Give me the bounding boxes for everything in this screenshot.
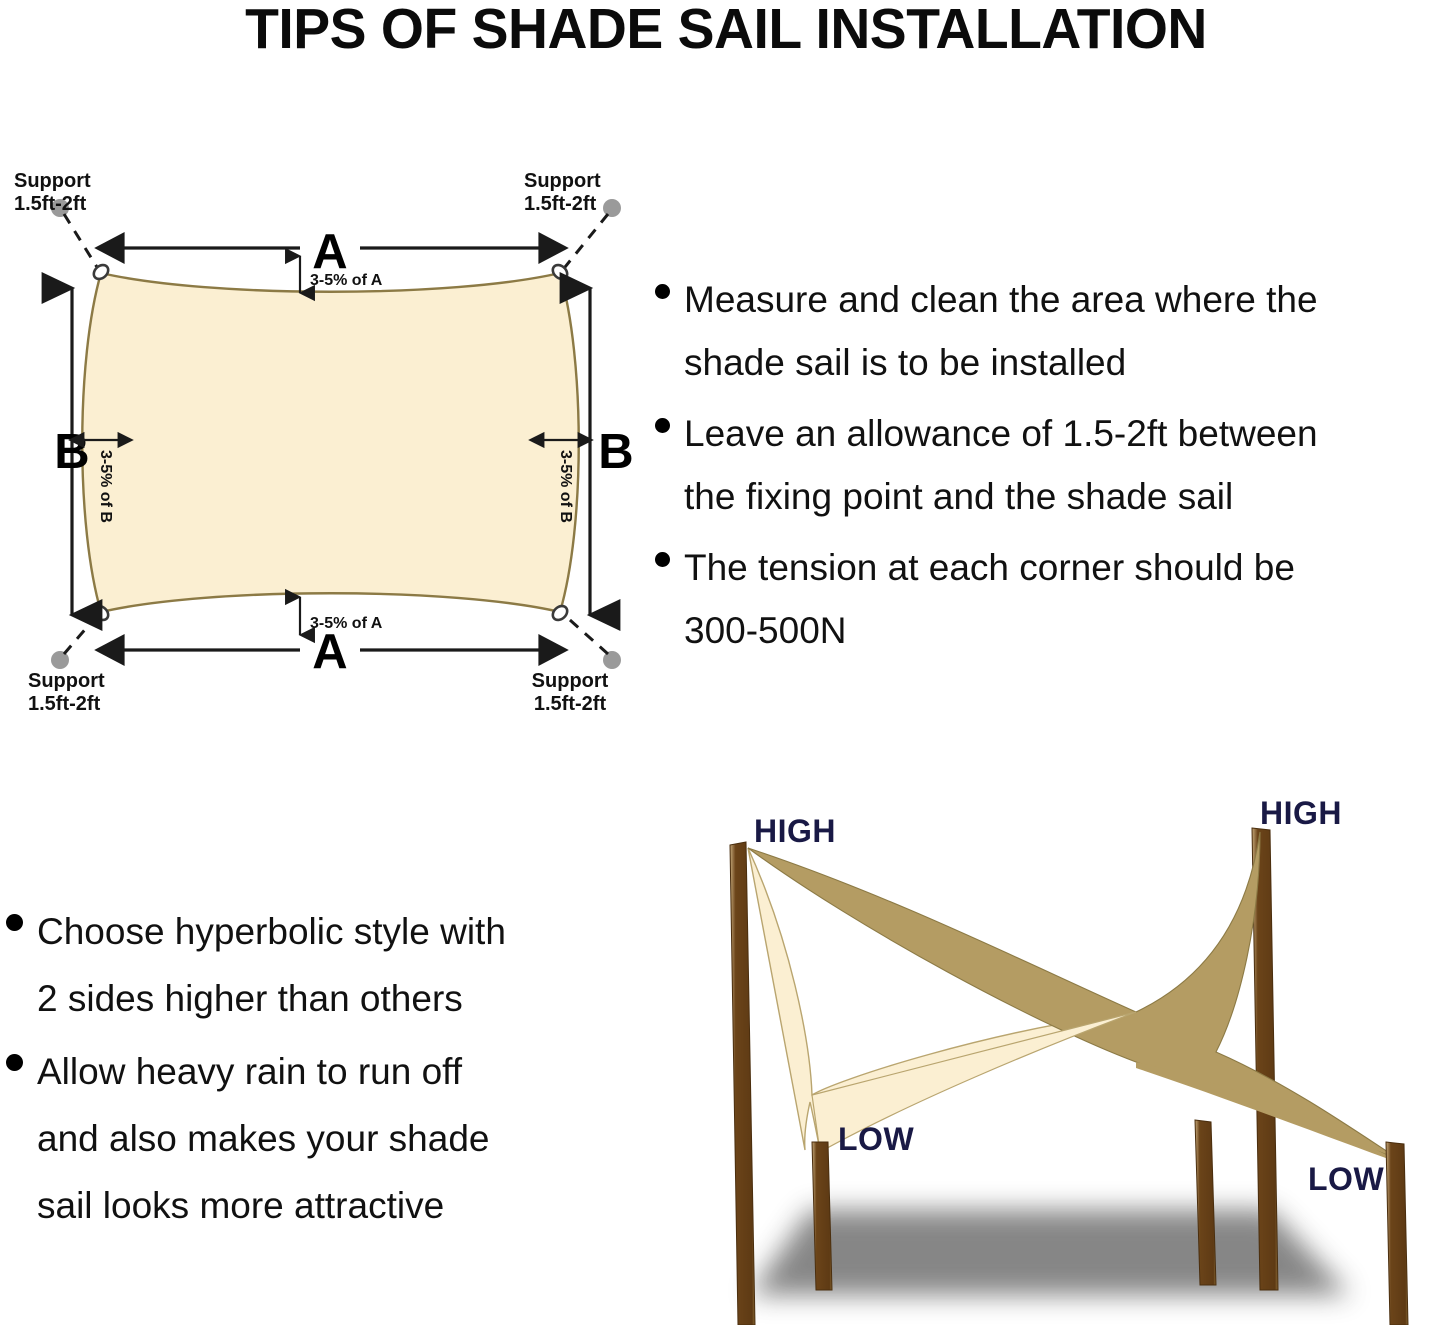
support-label-bottom-right-line2: 1.5ft-2ft bbox=[534, 693, 607, 715]
bullet-dot-icon bbox=[6, 914, 23, 931]
support-label-bottom-left-line1: Support bbox=[28, 670, 105, 692]
shade-sail-dimension-diagram: A 3-5% of A A 3-5% of A B 3-5% of B B 3-… bbox=[0, 160, 660, 740]
list-item: Measure and clean the area where the sha… bbox=[655, 268, 1452, 394]
dim-label-a-top: A bbox=[312, 225, 347, 279]
sail-body bbox=[82, 273, 579, 612]
dim-label-b-right: B bbox=[598, 425, 633, 479]
list-item: Allow heavy rain to run off and also mak… bbox=[6, 1038, 636, 1239]
dim-label-a-bottom: A bbox=[312, 625, 347, 679]
bullet-dot-icon bbox=[6, 1054, 23, 1071]
dim-label-b-left: B bbox=[54, 425, 89, 479]
support-label-top-right-line2: 1.5ft-2ft bbox=[524, 193, 597, 215]
installation-tips-list: Measure and clean the area where the sha… bbox=[655, 268, 1452, 670]
list-item: Choose hyperbolic style with 2 sides hig… bbox=[6, 898, 636, 1032]
support-dot-top-right bbox=[603, 199, 621, 217]
tether-bottom-right bbox=[561, 612, 608, 654]
bullet-dot-icon bbox=[655, 418, 670, 433]
curve-label-bottom: 3-5% of A bbox=[310, 615, 383, 632]
tether-top-left bbox=[64, 214, 100, 272]
support-label-top-left-line1: Support bbox=[14, 170, 91, 192]
bullet-dot-icon bbox=[655, 284, 670, 299]
label-high-right: HIGH bbox=[1260, 795, 1342, 831]
list-item-text: Choose hyperbolic style with 2 sides hig… bbox=[37, 898, 636, 1032]
list-item-text: The tension at each corner should be 300… bbox=[684, 536, 1452, 662]
support-dot-bottom-left bbox=[51, 651, 69, 669]
post-low-right bbox=[1386, 1142, 1408, 1325]
support-label-bottom-left-line2: 1.5ft-2ft bbox=[28, 693, 101, 715]
list-item-text: Measure and clean the area where the sha… bbox=[684, 268, 1452, 394]
bullet-dot-icon bbox=[655, 552, 670, 567]
list-item-text: Allow heavy rain to run off and also mak… bbox=[37, 1038, 636, 1239]
post-high-left bbox=[730, 842, 755, 1325]
list-item-text: Leave an allowance of 1.5-2ft between th… bbox=[684, 402, 1452, 528]
curve-label-top: 3-5% of A bbox=[310, 272, 383, 289]
tether-top-right bbox=[561, 214, 608, 272]
hyperbolic-sail-illustration: HIGH HIGH LOW LOW bbox=[660, 790, 1452, 1325]
list-item: The tension at each corner should be 300… bbox=[655, 536, 1452, 662]
curve-label-right: 3-5% of B bbox=[557, 450, 574, 523]
post-low-left bbox=[812, 1142, 832, 1290]
support-label-bottom-right-line1: Support bbox=[532, 670, 609, 692]
page-title: TIPS OF SHADE SAIL INSTALLATION bbox=[22, 0, 1430, 62]
label-low-right: LOW bbox=[1308, 1161, 1384, 1197]
hyperbolic-tips-list: Choose hyperbolic style with 2 sides hig… bbox=[6, 898, 636, 1245]
label-low-left: LOW bbox=[838, 1121, 914, 1157]
support-label-top-right-line1: Support bbox=[524, 170, 601, 192]
list-item: Leave an allowance of 1.5-2ft between th… bbox=[655, 402, 1452, 528]
tether-bottom-left bbox=[64, 612, 100, 654]
support-label-top-left-line2: 1.5ft-2ft bbox=[14, 193, 87, 215]
label-high-left: HIGH bbox=[754, 813, 836, 849]
curve-label-left: 3-5% of B bbox=[97, 450, 114, 523]
